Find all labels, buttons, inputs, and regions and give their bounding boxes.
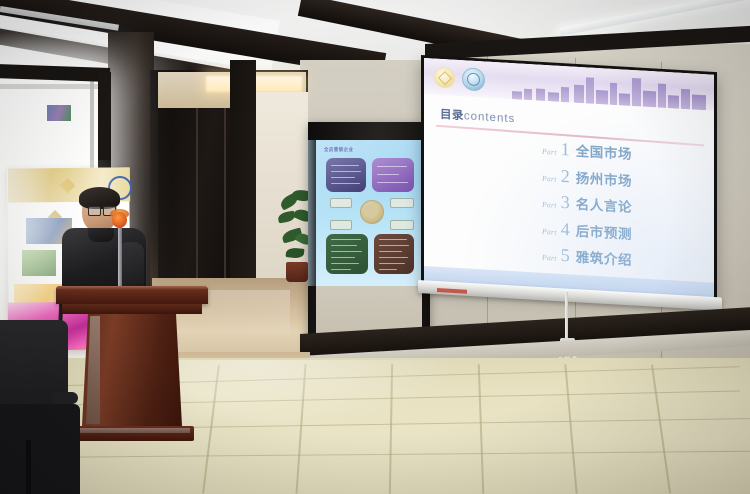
- handheld-microphone-body: [118, 222, 122, 292]
- signage-quadrant-bottom-left: [326, 234, 368, 274]
- lectern-top-highlight: [56, 286, 208, 290]
- slide-title-cn: 目录: [440, 109, 464, 122]
- room-photo-scene: 全员营销企业: [0, 0, 750, 494]
- slide-title: 目录contents: [440, 106, 515, 126]
- presentation-slide: 目录contents Part 1 全国市场 Part 2 扬州市场 Part …: [424, 58, 714, 299]
- toc-text: 后市预测: [576, 224, 632, 241]
- signage-bezel-reflection: [308, 140, 320, 286]
- toc-part-label: Part: [542, 200, 557, 210]
- signage-quadrant-bottom-right: [374, 234, 414, 274]
- toc-part-label: Part: [542, 226, 557, 236]
- microphone-head: [112, 212, 127, 228]
- window-sticker: [46, 104, 72, 122]
- office-chair-arm: [52, 392, 78, 404]
- lectern-base-trim: [76, 428, 190, 433]
- toc-part-label: Part: [542, 173, 557, 183]
- toc-number: 3: [561, 193, 570, 212]
- lectern-apron: [62, 304, 202, 314]
- door-seam-b: [224, 108, 226, 278]
- toc-number: 5: [561, 246, 570, 265]
- plant-pot: [286, 262, 308, 282]
- toc-text: 扬州市场: [576, 171, 632, 188]
- toc-part-label: Part: [542, 253, 557, 263]
- toc-number: 1: [561, 140, 570, 159]
- slide-title-en: contents: [464, 110, 515, 125]
- toc-text: 名人言论: [576, 198, 632, 215]
- toc-text: 全国市场: [576, 145, 632, 162]
- window-transom-bar: [0, 84, 100, 89]
- door-seam-a: [196, 108, 198, 278]
- projector-screen-surface[interactable]: 目录contents Part 1 全国市场 Part 2 扬州市场 Part …: [424, 58, 714, 299]
- office-chair-seat[interactable]: [0, 404, 80, 494]
- blue-emblem-logo-inner: [467, 72, 480, 86]
- toc-number: 2: [561, 166, 570, 185]
- slide-table-of-contents: Part 1 全国市场 Part 2 扬州市场 Part 3 名人言论 Part…: [542, 139, 710, 281]
- signage-tag-right-lower: [390, 220, 414, 230]
- signage-tag-left: [330, 198, 352, 208]
- signage-center-hub-inner: [364, 204, 378, 218]
- signage-tag-right: [390, 198, 414, 208]
- signage-quadrant-top-right: [372, 158, 414, 192]
- presenter-collar: [88, 228, 114, 242]
- toc-text: 雅筑介绍: [576, 251, 632, 268]
- toc-number: 4: [561, 219, 570, 238]
- signage-slide-title: 全员营销企业: [324, 147, 353, 153]
- signage-quadrant-top-left: [326, 158, 366, 192]
- signage-tag-left-lower: [330, 220, 352, 230]
- portrait-digital-signage-screen[interactable]: 全员营销企业: [316, 140, 422, 286]
- office-chair-leg: [26, 440, 31, 494]
- toc-part-label: Part: [542, 147, 557, 157]
